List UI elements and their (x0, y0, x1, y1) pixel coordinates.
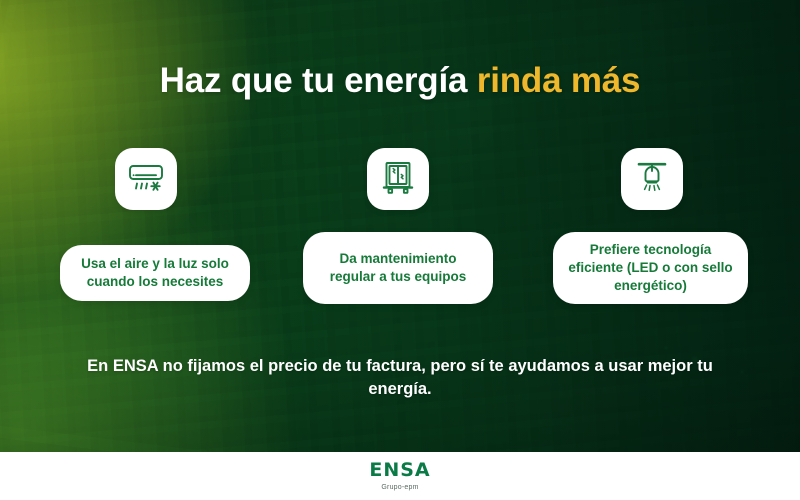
air-conditioner-icon-tile (115, 148, 177, 210)
banner-content: Haz que tu energía rinda más (0, 0, 800, 452)
window-appliance-icon (382, 161, 414, 197)
tip-card-1: Usa el aire y la luz solo cuando los nec… (60, 148, 250, 301)
tip-label-3: Prefiere tecnología eficiente (LED o con… (553, 232, 748, 304)
tip-label-2: Da mantenimiento regular a tus equipos (303, 232, 493, 304)
footer: ENSA Grupo-epm (0, 452, 800, 500)
tip-card-3: Prefiere tecnología eficiente (LED o con… (553, 148, 748, 304)
ceiling-lamp-icon (635, 161, 669, 197)
ensa-logo-subtitle: Grupo-epm (381, 484, 418, 491)
promo-banner: Haz que tu energía rinda más (0, 0, 800, 500)
tip-label-1: Usa el aire y la luz solo cuando los nec… (60, 245, 250, 301)
window-appliance-icon-tile (367, 148, 429, 210)
ensa-logo: ENSA (369, 461, 430, 480)
air-conditioner-icon (127, 163, 165, 195)
closing-statement: En ENSA no fijamos el precio de tu factu… (80, 355, 720, 402)
tip-card-2: Da mantenimiento regular a tus equipos (303, 148, 493, 304)
ceiling-lamp-icon-tile (621, 148, 683, 210)
